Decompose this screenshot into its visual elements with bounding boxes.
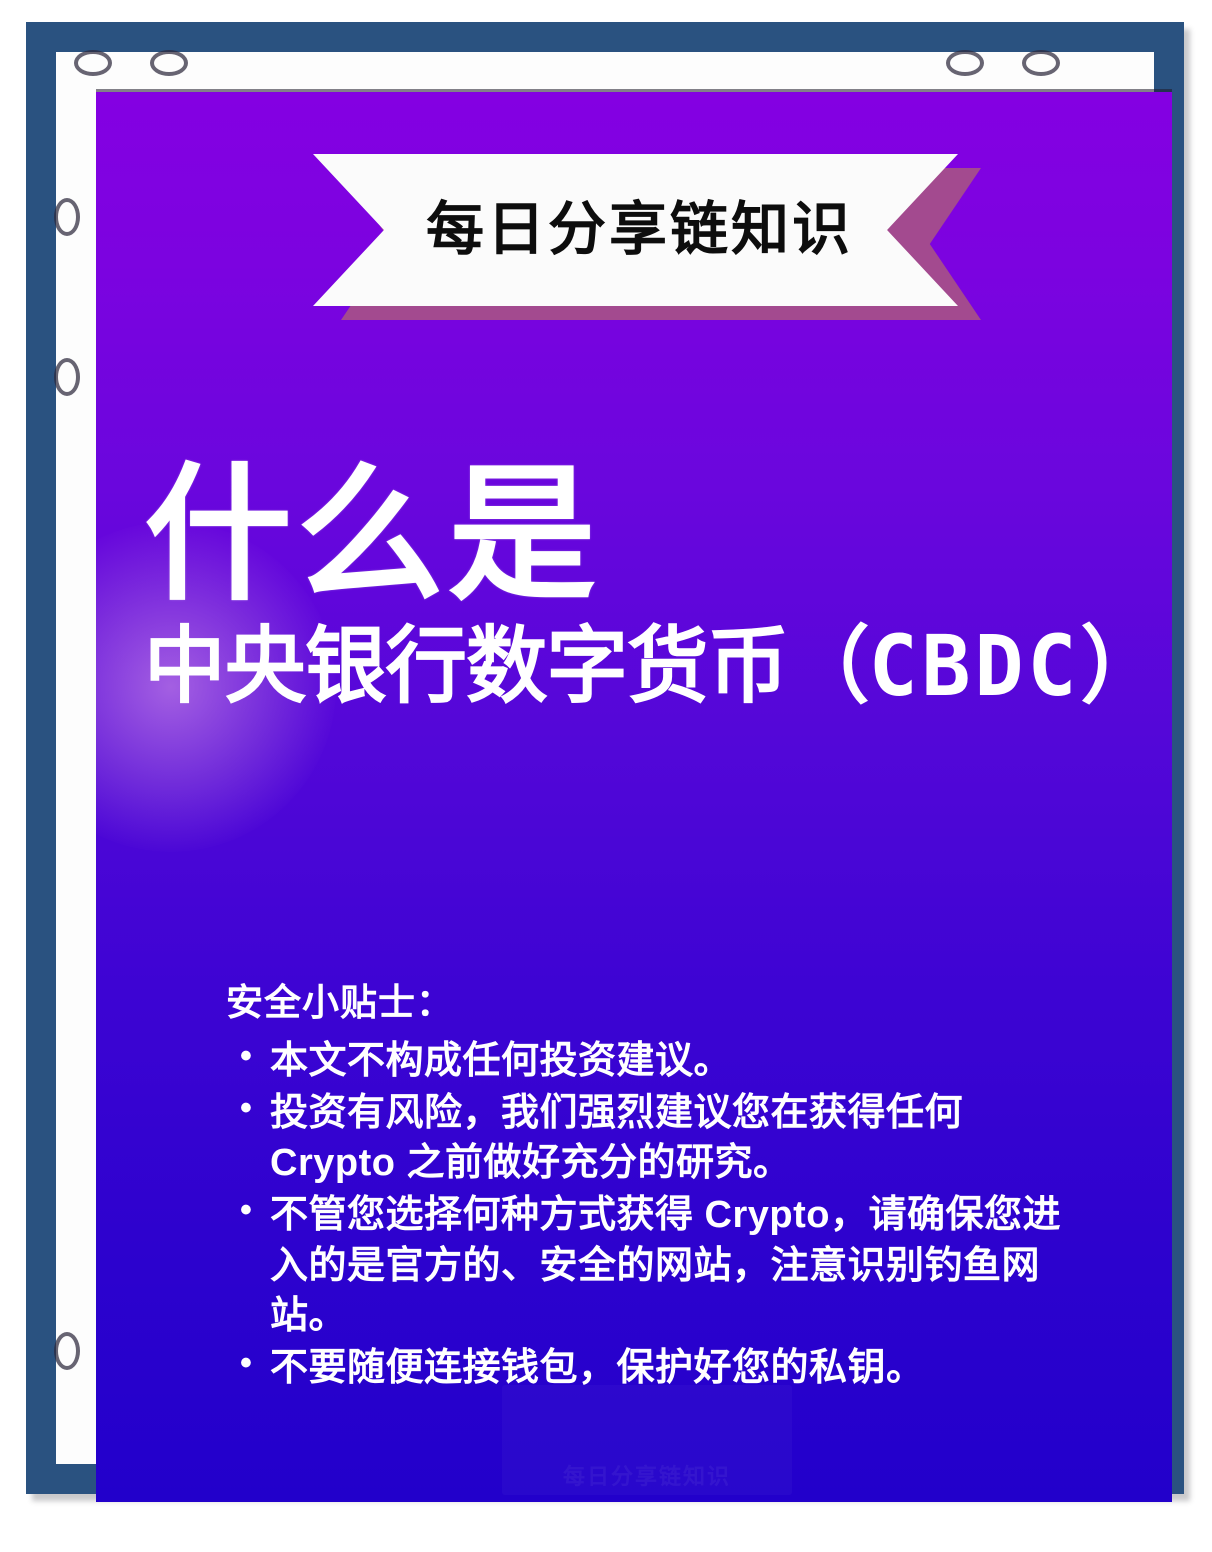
watermark: 每日分享链知识 [502, 1385, 792, 1495]
ribbon-plate: 每日分享链知识 [313, 154, 958, 306]
safety-tips-list: 本文不构成任何投资建议。 投资有风险，我们强烈建议您在获得任何 Crypto 之… [226, 1036, 1086, 1393]
list-item: 投资有风险，我们强烈建议您在获得任何 Crypto 之前做好充分的研究。 [226, 1088, 1086, 1188]
headline-block: 什么是 中央银行数字货币（CBDC） [144, 462, 1154, 710]
headline-subtitle-suffix: ） [1080, 619, 1161, 713]
headline-subtitle-prefix: 中央银行数字货币（ [144, 619, 869, 713]
list-item: 本文不构成任何投资建议。 [226, 1036, 1086, 1086]
safety-tips-block: 安全小贴士： 本文不构成任何投资建议。 投资有风险，我们强烈建议您在获得任何 C… [226, 972, 1086, 1395]
ribbon-banner: 每日分享链知识 [313, 154, 993, 319]
ribbon-label: 每日分享链知识 [426, 201, 853, 259]
headline-subtitle-acronym: CBDC [869, 617, 1081, 715]
watermark-label: 每日分享链知识 [502, 1459, 792, 1491]
safety-tips-title: 安全小贴士： [226, 972, 1086, 1026]
watermark-plate [502, 1385, 792, 1495]
card-frame: 每日分享链知识 什么是 中央银行数字货币（CBDC） 安全小贴士： 本文不构成任… [26, 22, 1184, 1494]
headline-main-title: 什么是 [144, 462, 1154, 610]
list-item: 不管您选择何种方式获得 Crypto，请确保您进入的是官方的、安全的网站，注意识… [226, 1190, 1086, 1340]
poster-panel: 每日分享链知识 什么是 中央银行数字货币（CBDC） 安全小贴士： 本文不构成任… [96, 92, 1172, 1502]
poster-page: 每日分享链知识 什么是 中央银行数字货币（CBDC） 安全小贴士： 本文不构成任… [0, 0, 1212, 1552]
headline-subtitle: 中央银行数字货币（CBDC） [144, 622, 1124, 710]
list-item: 不要随便连接钱包，保护好您的私钥。 [226, 1343, 1086, 1393]
